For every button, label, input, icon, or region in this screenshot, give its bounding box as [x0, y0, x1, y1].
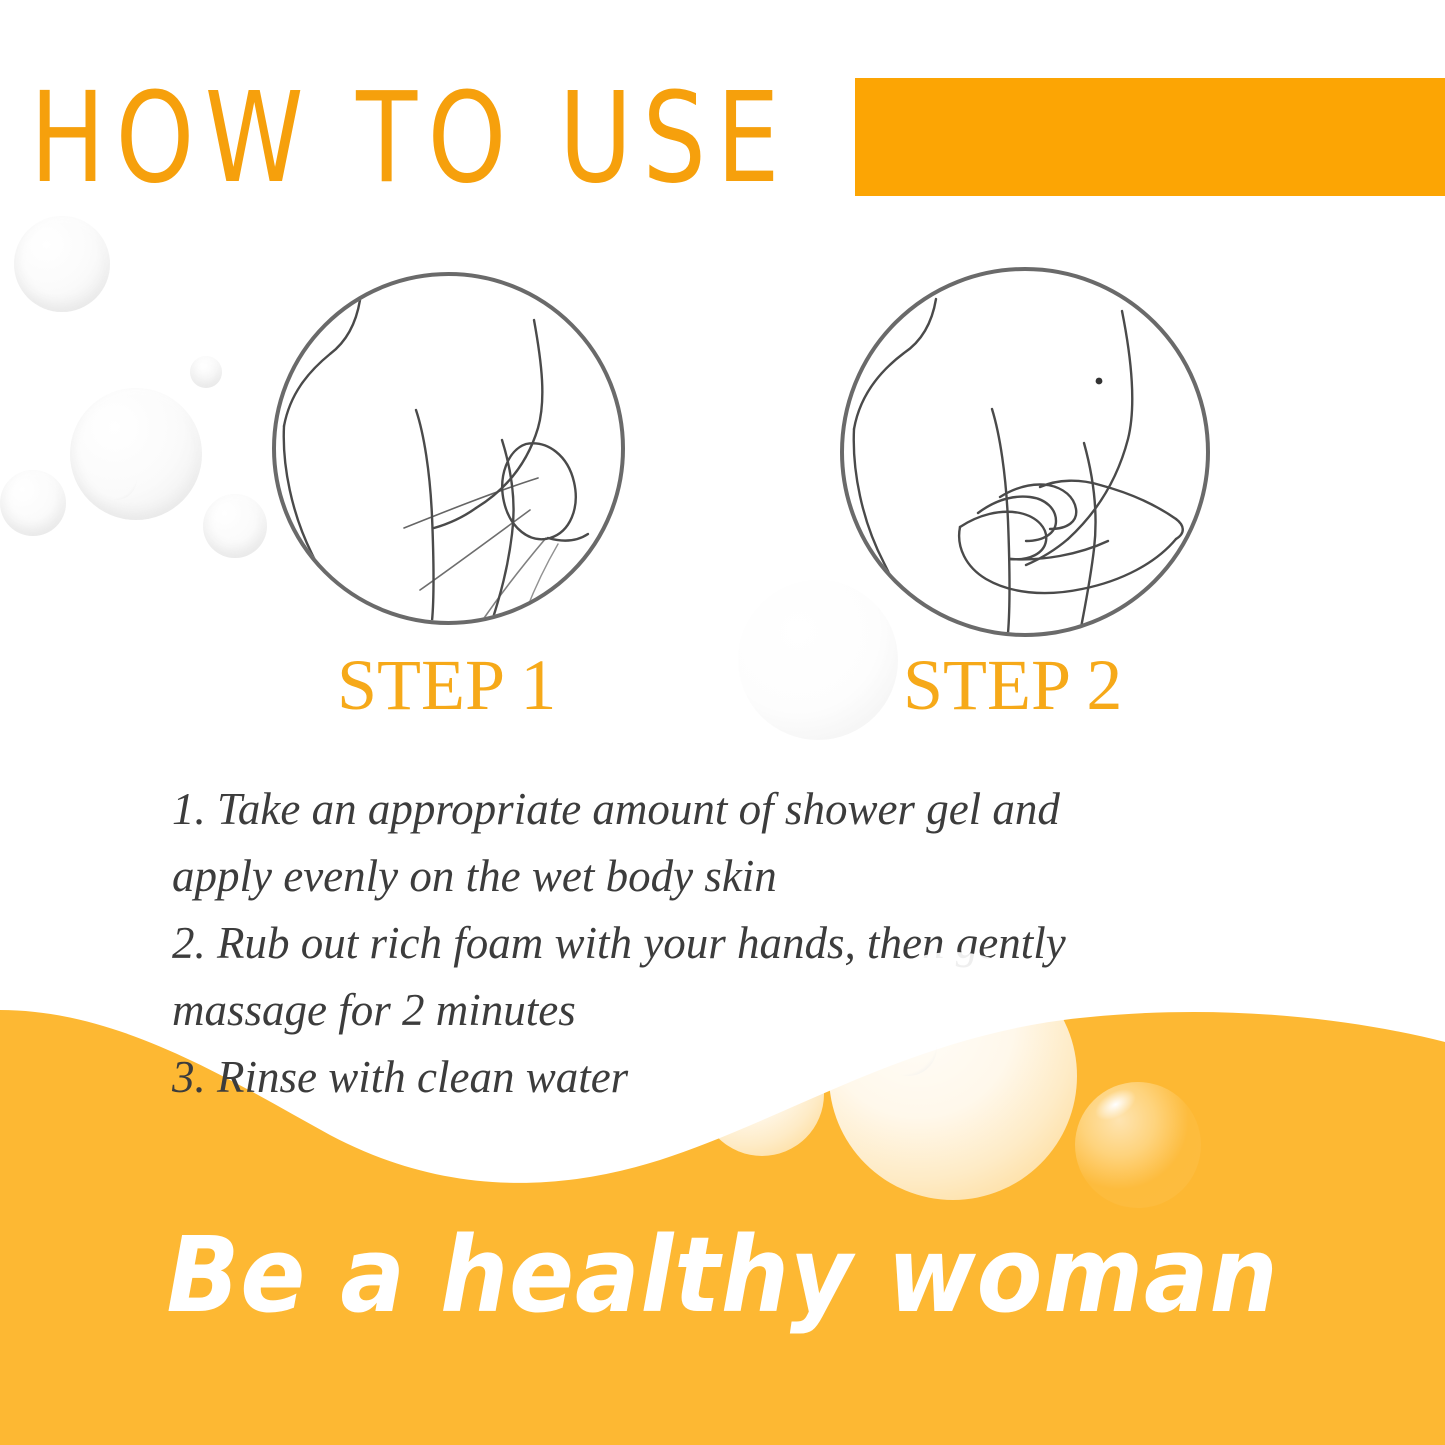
- bubble-icon: [738, 580, 898, 740]
- bubble-icon: [70, 388, 202, 520]
- bubble-icon: [190, 356, 222, 388]
- bubble-icon: [203, 494, 267, 558]
- step-1-label: STEP 1: [337, 646, 556, 724]
- usage-instructions: 1. Take an appropriate amount of shower …: [172, 776, 1262, 1111]
- instruction-line: 3. Rinse with clean water: [172, 1044, 1262, 1111]
- bubble-icon: [0, 470, 66, 536]
- bubble-icon: [14, 216, 110, 312]
- step-1-illustration-circle: [272, 272, 625, 625]
- page-title: HOW TO USE: [30, 74, 686, 204]
- instruction-line: apply evenly on the wet body skin: [172, 843, 1262, 910]
- torso-with-cupped-hands-icon: [844, 271, 1206, 633]
- instruction-line: massage for 2 minutes: [172, 977, 1262, 1044]
- instruction-line: 1. Take an appropriate amount of shower …: [172, 776, 1262, 843]
- footer-tagline: Be a healthy woman: [58, 1216, 1387, 1334]
- how-to-use-infographic: HOW TO USE: [0, 0, 1445, 1445]
- step-2-label: STEP 2: [903, 646, 1122, 724]
- shoulder-with-shower-gel-applied-icon: [276, 276, 621, 621]
- step-2-illustration-circle: [840, 267, 1210, 637]
- header-accent-bar: [855, 78, 1445, 196]
- instruction-line: 2. Rub out rich foam with your hands, th…: [172, 910, 1262, 977]
- bubble-icon: [95, 458, 137, 500]
